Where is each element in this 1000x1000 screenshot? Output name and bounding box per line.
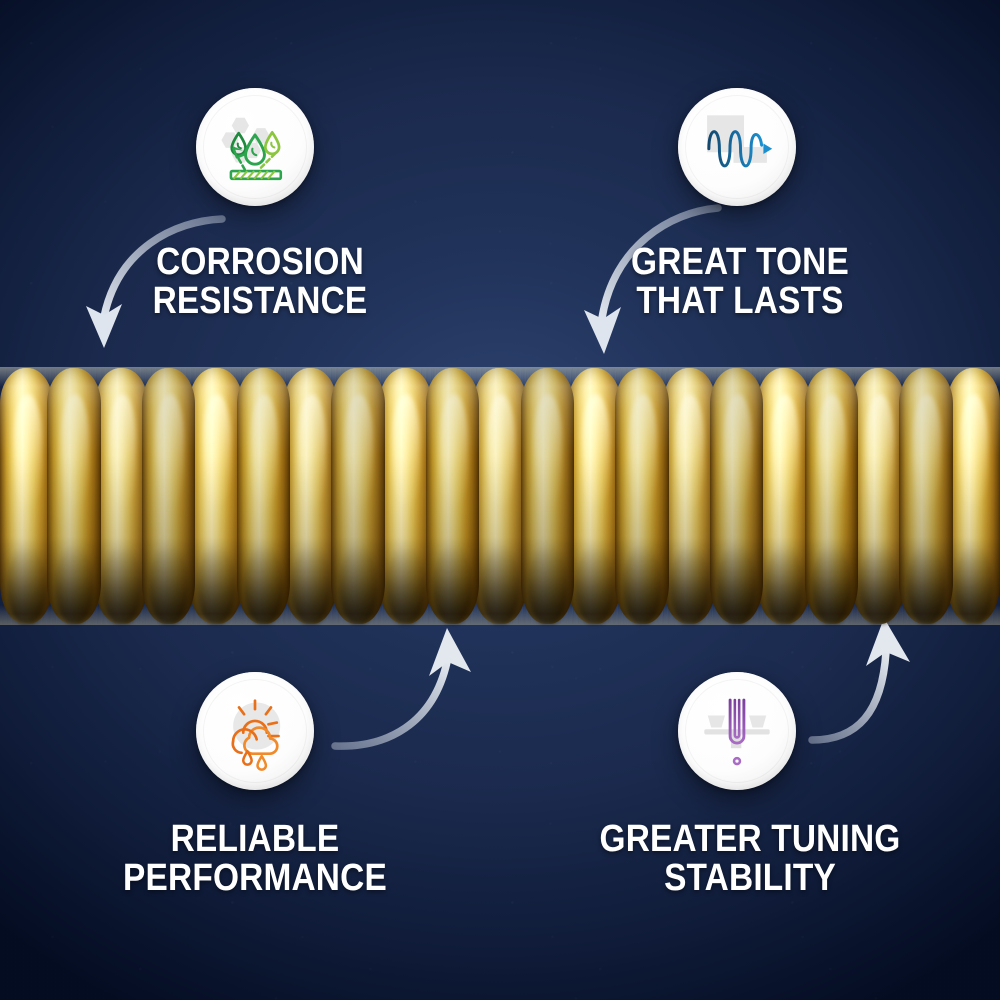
icon-badge-reliable-performance[interactable] [196,672,314,790]
icon-badge-corrosion-resistance[interactable] [196,88,314,206]
icon-badge-tuning-stability[interactable] [678,672,796,790]
sun-cloud-rain-icon [213,689,297,773]
string-coil [899,368,952,624]
string-coil [521,368,574,624]
string-coil [852,368,905,624]
gold-coiled-string-photo [0,368,1000,624]
string-coil [615,368,668,624]
string-coil [142,368,195,624]
feature-label-tuning-stability: GREATER TUNING STABILITY [587,820,913,898]
sound-wave-icon [693,103,781,191]
string-coil [568,368,621,624]
string-coil [473,368,526,624]
feature-label-corrosion-resistance: CORROSION RESISTANCE [110,243,409,321]
string-coil [284,368,337,624]
string-coil [947,368,1000,624]
string-coil [237,368,290,624]
string-coil [331,368,384,624]
string-coil [426,368,479,624]
string-coil [757,368,810,624]
string-coil [95,368,148,624]
feature-label-reliable-performance: RELIABLE PERFORMANCE [97,820,414,898]
feature-label-great-tone: GREAT TONE THAT LASTS [590,243,889,321]
string-coil [189,368,242,624]
string-coil [0,368,53,624]
water-droplets-repellent-icon [212,104,298,190]
string-coil [805,368,858,624]
string-coil [710,368,763,624]
string-coil [379,368,432,624]
string-coil [47,368,100,624]
icon-badge-great-tone[interactable] [678,88,796,206]
string-coil [663,368,716,624]
string-coil-row [0,368,1000,624]
infographic-canvas: CORROSION RESISTANCE GREAT TONE THAT LAS… [0,0,1000,1000]
tuning-fork-icon [694,688,780,774]
